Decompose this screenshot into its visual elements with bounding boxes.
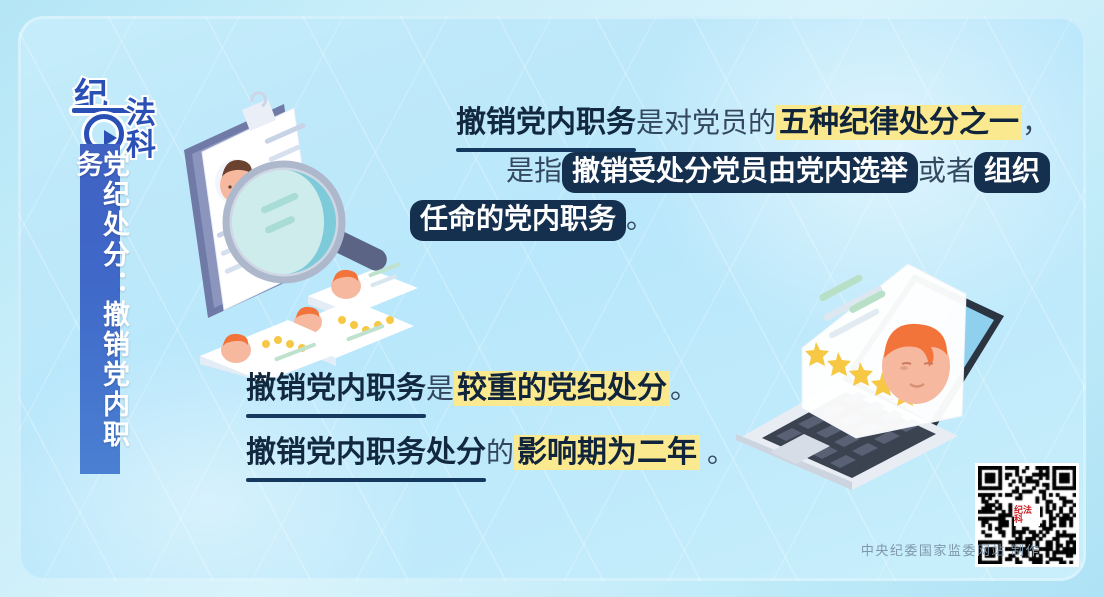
text-seg-highlight: 较重的党纪处分: [454, 371, 670, 406]
text-seg-pill: 任命的党内职务: [410, 200, 626, 241]
floating-profile-card: [802, 264, 966, 438]
laptop-illustration: [718, 252, 1028, 492]
text-seg-pill: 组织: [974, 152, 1050, 193]
text-seg-pill: 撤销受处分党员由党内选举: [562, 152, 918, 193]
upper-text-block: 撤销党内职务是对党员的五种纪律处分之一， 是指撤销受处分党员由党内选举或者组织 …: [410, 108, 1050, 252]
text-seg-punctuation: ，: [1022, 108, 1050, 139]
upper-line-3: 任命的党内职务。: [410, 204, 1050, 234]
qr-center-logo: 纪法科: [1014, 504, 1040, 526]
banner-title-text: 党纪处分：撤销党内职务: [73, 150, 127, 474]
lower-text-block: 撤销党内职务是较重的党纪处分。 撤销党内职务处分的影响期为二年 。: [246, 374, 746, 502]
text-seg-plain: 是: [426, 374, 454, 405]
vertical-title-banner: 党纪处分：撤销党内职务: [80, 144, 120, 474]
text-seg-plain: 是对党员的: [636, 108, 776, 139]
text-seg-punctuation: 。: [700, 438, 735, 469]
lower-line-1: 撤销党内职务是较重的党纪处分。: [246, 374, 746, 404]
logo-char-ke: 科: [126, 120, 156, 164]
lower-line-2: 撤销党内职务处分的影响期为二年 。: [246, 438, 746, 468]
clipboard-magnifier-cards-illustration: [156, 82, 426, 382]
infographic-poster: 纪 法 科 党纪处分：撤销党内职务: [0, 0, 1104, 597]
poster-inner-frame: 纪 法 科 党纪处分：撤销党内职务: [18, 16, 1086, 581]
text-seg-strong: 撤销党内职务: [456, 106, 636, 139]
text-seg-punctuation: 。: [626, 204, 654, 235]
text-seg-punctuation: 。: [670, 374, 698, 405]
magnifying-glass-icon: [224, 162, 391, 282]
text-seg-highlight: 影响期为二年: [514, 435, 700, 470]
text-seg-strong: 撤销党内职务处分: [246, 436, 486, 469]
footer-credit: 中央纪委国家监委网站 制作: [861, 540, 1040, 559]
upper-line-2: 是指撤销受处分党员由党内选举或者组织: [410, 156, 1050, 186]
text-seg-plain: 是指: [506, 156, 562, 187]
upper-line-1: 撤销党内职务是对党员的五种纪律处分之一，: [410, 108, 1050, 138]
text-seg-plain: 的: [486, 438, 514, 469]
text-seg-highlight: 五种纪律处分之一: [776, 105, 1022, 140]
text-seg-strong: 撤销党内职务: [246, 372, 426, 405]
text-seg-plain: 或者: [918, 156, 974, 187]
